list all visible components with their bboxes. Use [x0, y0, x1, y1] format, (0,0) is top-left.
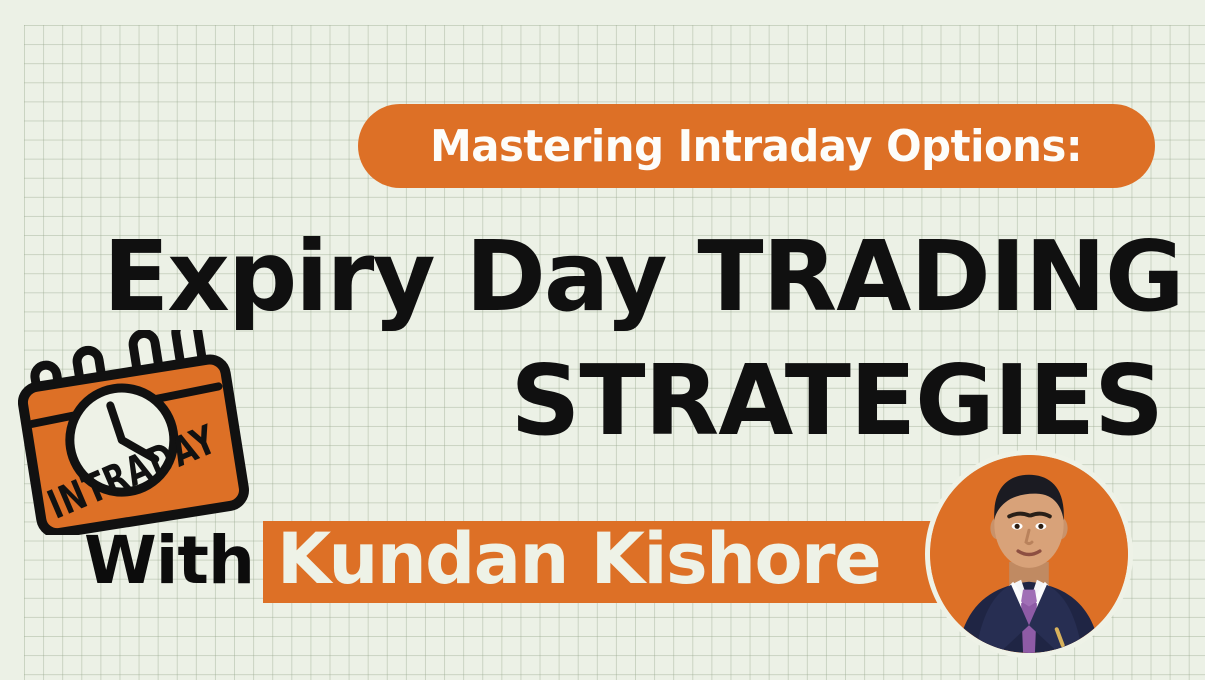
headline-caps-part: TRADING: [697, 220, 1183, 333]
headline-mixed-case-part: Expiry Day: [103, 220, 697, 333]
presenter-avatar: [925, 450, 1133, 658]
headline-line-1: Expiry Day TRADING: [103, 228, 1184, 325]
presenter-name-label: Kundan Kishore: [277, 524, 880, 594]
intraday-calendar-clock-icon: INTRADAY: [18, 330, 253, 535]
presenter-avatar-portrait: [930, 455, 1128, 653]
kicker-banner: Mastering Intraday Options:: [358, 104, 1155, 188]
kicker-text: Mastering Intraday Options:: [431, 121, 1083, 172]
thumbnail-canvas: Mastering Intraday Options: Expiry Day T…: [0, 0, 1205, 680]
presenter-prefix-label: With: [84, 528, 254, 594]
